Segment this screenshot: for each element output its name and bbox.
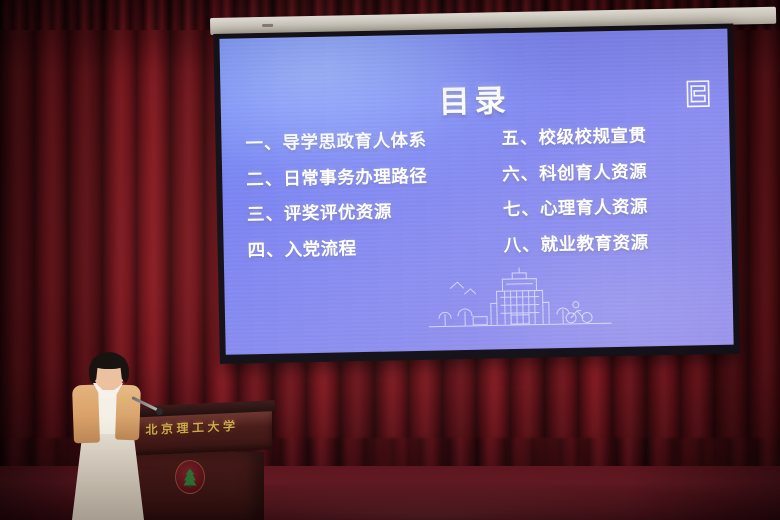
toc-item: 七、心理育人资源 bbox=[503, 198, 705, 220]
campus-building-line-art-icon bbox=[424, 265, 615, 339]
toc-item-label: 入党流程 bbox=[284, 239, 356, 260]
emblem-tree-icon bbox=[183, 468, 198, 487]
presenter-fringe bbox=[92, 354, 126, 369]
toc-item-label: 校级校规宣贯 bbox=[538, 126, 646, 148]
slide-contents-list: 一、导学思政育人体系 二、日常事务办理路径 三、评奖评优资源 四、入党流程 bbox=[221, 127, 731, 261]
toc-item: 二、日常事务办理路径 bbox=[246, 168, 448, 190]
toc-item-label: 评奖评优资源 bbox=[284, 202, 392, 224]
toc-item: 六、科创育人资源 bbox=[502, 163, 704, 185]
slide-title: 目录 bbox=[220, 71, 729, 126]
housing-nub-icon bbox=[262, 24, 273, 27]
contents-column-right: 五、校级校规宣贯 六、科创育人资源 七、心理育人资源 八、就业教育资源 bbox=[447, 127, 705, 256]
toc-item: 八、就业教育资源 bbox=[503, 234, 705, 256]
toc-item-label: 科创育人资源 bbox=[539, 162, 647, 184]
toc-item-number: 四、 bbox=[247, 240, 284, 261]
toc-item-label: 导学思政育人体系 bbox=[282, 131, 426, 154]
microphone-head-icon bbox=[156, 408, 163, 415]
toc-item-number: 七、 bbox=[503, 199, 540, 220]
toc-item-number: 二、 bbox=[246, 169, 283, 190]
presenter-figure bbox=[62, 352, 160, 520]
toc-item-number: 五、 bbox=[501, 128, 538, 149]
auditorium-stage-photo: 目录 一、导学思政育人体系 二、日常事务办理路径 bbox=[0, 0, 780, 520]
toc-item: 一、导学思政育人体系 bbox=[245, 132, 447, 154]
presenter-lapel-pin bbox=[122, 398, 126, 402]
toc-item: 三、评奖评优资源 bbox=[247, 203, 449, 225]
university-emblem bbox=[175, 460, 205, 494]
bit-book-logo-icon bbox=[685, 79, 711, 108]
slide-surface: 目录 一、导学思政育人体系 二、日常事务办理路径 bbox=[219, 29, 733, 355]
toc-item-number: 三、 bbox=[247, 205, 284, 226]
toc-item-number: 六、 bbox=[502, 164, 539, 185]
presenter-jacket-left bbox=[72, 385, 100, 444]
presenter-jacket-right bbox=[115, 385, 141, 441]
toc-item: 四、入党流程 bbox=[248, 239, 450, 261]
contents-column-left: 一、导学思政育人体系 二、日常事务办理路径 三、评奖评优资源 四、入党流程 bbox=[245, 132, 449, 260]
toc-item: 五、校级校规宣贯 bbox=[501, 127, 703, 149]
toc-item-number: 八、 bbox=[503, 235, 540, 256]
toc-item-label: 日常事务办理路径 bbox=[283, 166, 427, 189]
toc-item-label: 就业教育资源 bbox=[540, 233, 648, 255]
toc-item-label: 心理育人资源 bbox=[540, 197, 648, 219]
screen-frame: 目录 一、导学思政育人体系 二、日常事务办理路径 bbox=[213, 24, 740, 364]
projector-screen: 目录 一、导学思政育人体系 二、日常事务办理路径 bbox=[213, 8, 740, 360]
toc-item-number: 一、 bbox=[245, 134, 282, 155]
